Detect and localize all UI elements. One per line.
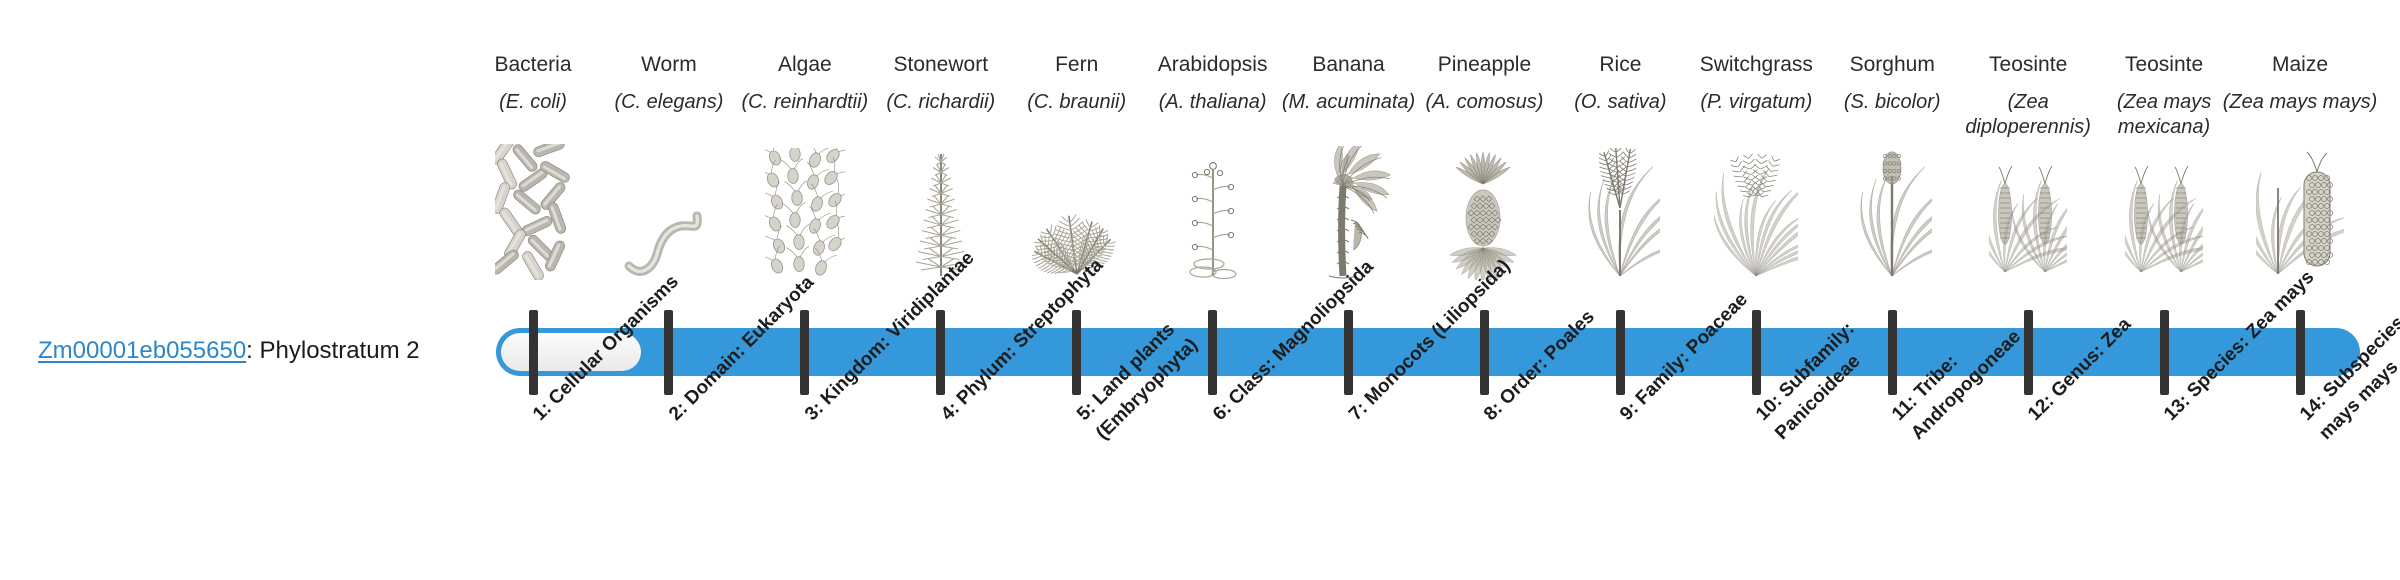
- maize-icon: [2216, 168, 2384, 280]
- species-scientific-name: (Zea mays mays): [2216, 90, 2384, 115]
- stratum-tick-6[interactable]: [1208, 310, 1217, 395]
- stratum-tick-4[interactable]: [936, 310, 945, 395]
- gene-id-link[interactable]: Zm00001eb055650: [38, 337, 246, 364]
- stratum-tick-11[interactable]: [1888, 310, 1897, 395]
- stratum-tick-9[interactable]: [1616, 310, 1625, 395]
- stratum-tick-14[interactable]: [2296, 310, 2305, 395]
- stratum-tick-1[interactable]: [529, 310, 538, 395]
- gene-label-separator: :: [246, 337, 259, 364]
- stratum-tick-5[interactable]: [1072, 310, 1081, 395]
- species-header-maize: Maize(Zea mays mays): [2216, 52, 2384, 115]
- stratum-tick-8[interactable]: [1480, 310, 1489, 395]
- stratum-tick-3[interactable]: [800, 310, 809, 395]
- stratum-tick-13[interactable]: [2160, 310, 2169, 395]
- stratum-tick-12[interactable]: [2024, 310, 2033, 395]
- phylostratum-value: Phylostratum 2: [260, 337, 420, 364]
- stratum-tick-7[interactable]: [1344, 310, 1353, 395]
- gene-phylostratum-label: Zm00001eb055650: Phylostratum 2: [38, 336, 458, 366]
- stratum-tick-2[interactable]: [664, 310, 673, 395]
- phylostratigraphy-diagram: Zm00001eb055650: Phylostratum 2 Bacteria…: [0, 0, 2400, 580]
- species-common-name: Maize: [2216, 52, 2384, 78]
- stratum-tick-10[interactable]: [1752, 310, 1761, 395]
